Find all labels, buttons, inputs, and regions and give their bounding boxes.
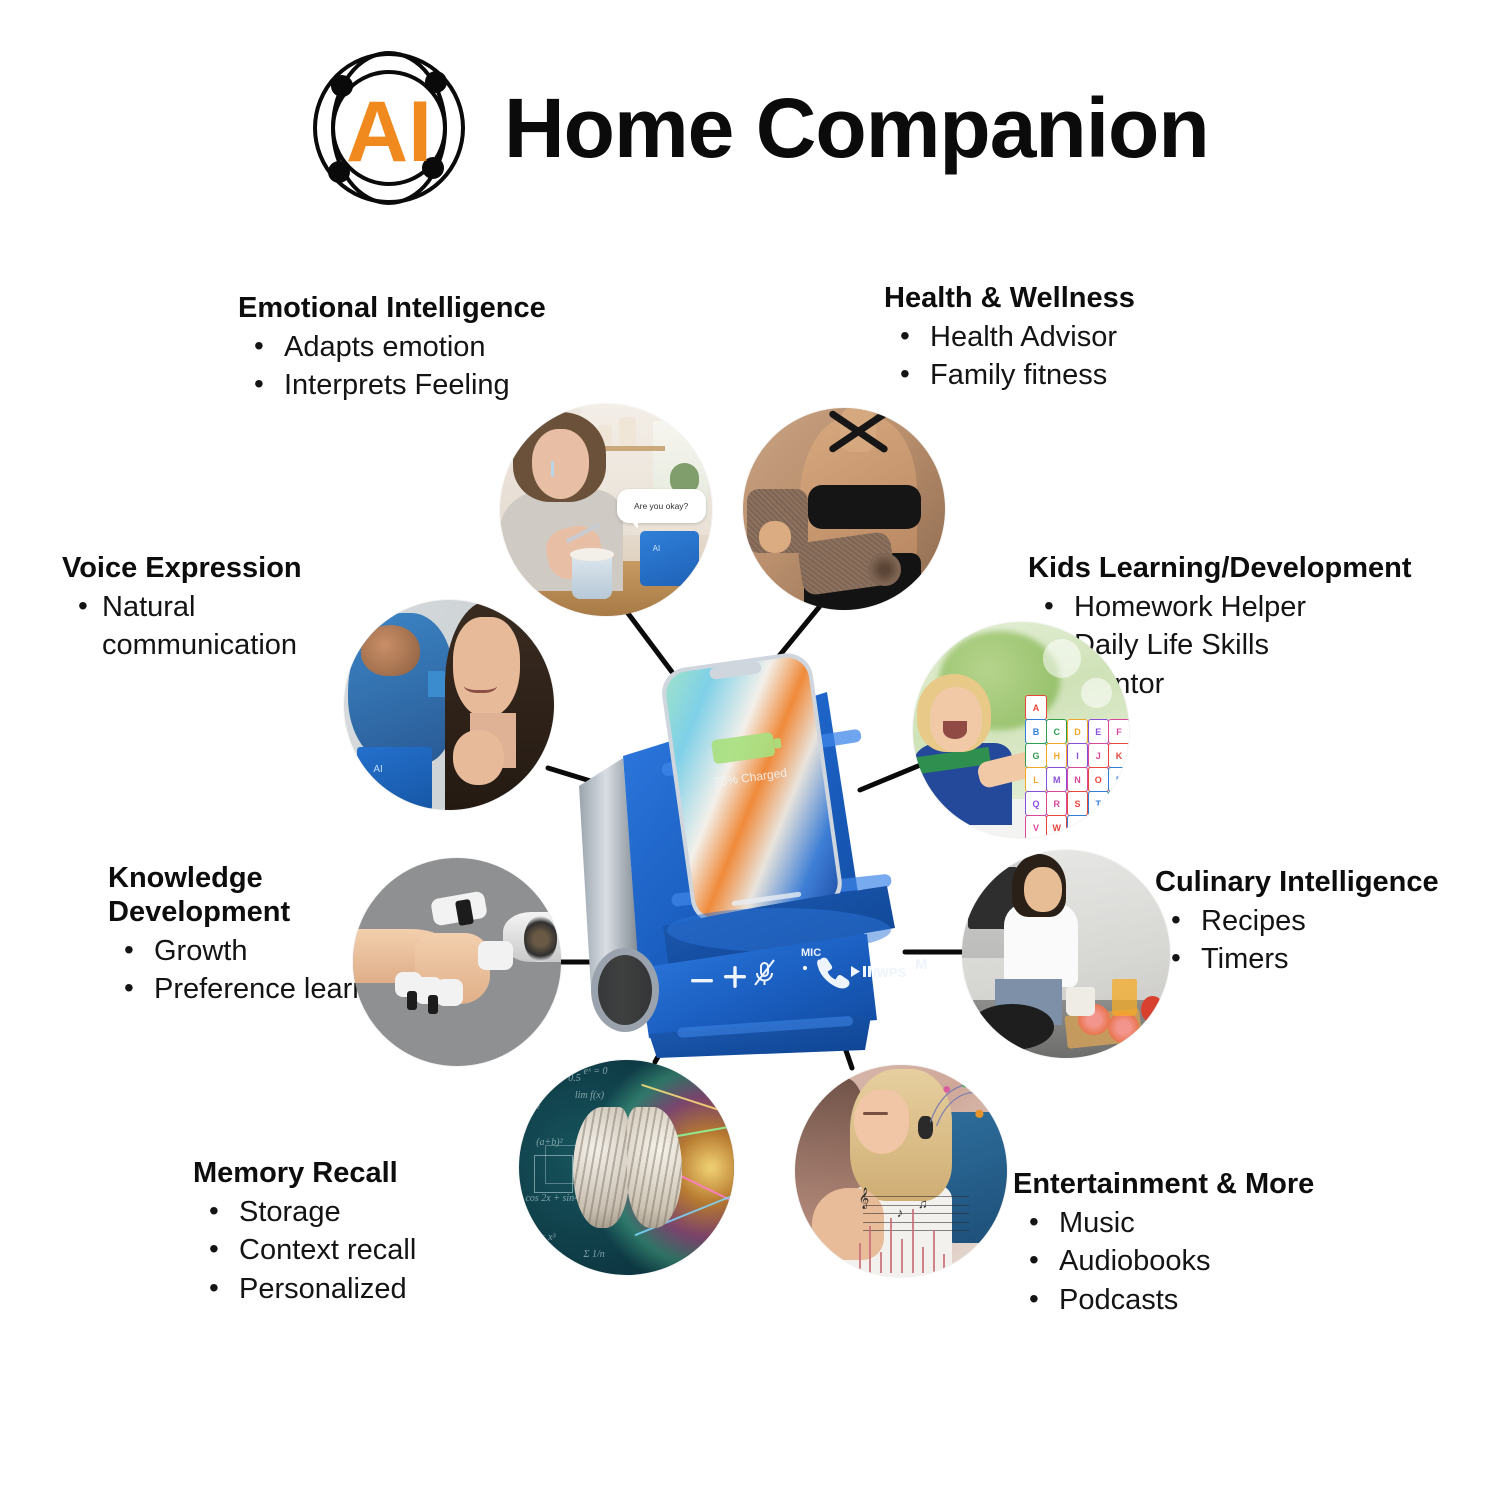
alphabet-block: A xyxy=(1025,695,1046,720)
alphabet-block: Y xyxy=(1088,815,1109,838)
feature-title: Emotional Intelligence xyxy=(238,292,668,326)
math-formula: (a+b)² xyxy=(536,1137,562,1148)
list-item: Adapts emotion xyxy=(238,328,668,367)
alphabet-block: Q xyxy=(1025,791,1046,816)
mic-pinhole xyxy=(803,966,807,970)
feature-bullet-list: Recipes Timers xyxy=(1155,902,1495,979)
feature-title: Voice Expression xyxy=(62,552,392,586)
alphabet-block: M xyxy=(1046,767,1067,792)
photo-health-wellness xyxy=(743,408,945,610)
list-item: Personalized xyxy=(193,1270,523,1309)
alphabet-block: N xyxy=(1067,767,1088,792)
list-item: Homework Helper xyxy=(1028,588,1488,627)
photo-culinary-intelligence xyxy=(962,850,1170,1058)
alphabet-block: P xyxy=(1108,767,1129,792)
alphabet-block: F xyxy=(1108,719,1129,744)
alphabet-block: R xyxy=(1046,791,1067,816)
page-title: Home Companion xyxy=(504,86,1209,170)
mode-button: M xyxy=(915,956,928,973)
mic-label: MIC xyxy=(801,947,821,959)
feature-title: Memory Recall xyxy=(193,1157,523,1191)
alphabet-block: Z xyxy=(1108,815,1129,838)
feature-title: Entertainment & More xyxy=(1013,1168,1373,1202)
feature-block-entertainment-more: Entertainment & More Music Audiobooks Po… xyxy=(1013,1168,1373,1320)
brand-header: AI Home Companion xyxy=(300,48,1209,208)
math-formula: y = x³ xyxy=(532,1232,556,1243)
math-formula: ∫ x² dx = 0.5 xyxy=(532,1073,581,1084)
photo-entertainment-more: 𝄞 ♪ ♫ xyxy=(795,1065,1007,1277)
music-staff-icon xyxy=(863,1196,969,1230)
alphabet-block: H xyxy=(1046,743,1067,768)
alphabet-block: E xyxy=(1088,719,1109,744)
alphabet-block: U xyxy=(1108,791,1129,816)
device-ai-badge: AI xyxy=(373,764,382,775)
alphabet-block: S xyxy=(1067,791,1088,816)
feature-bullet-list: Storage Context recall Personalized xyxy=(193,1193,523,1309)
feature-block-health-wellness: Health & Wellness Health Advisor Family … xyxy=(884,282,1284,395)
alphabet-block: X xyxy=(1067,815,1088,838)
math-formula: lim f(x) xyxy=(575,1090,604,1101)
feature-bullet-list: Adapts emotion Interprets Feeling xyxy=(238,328,668,405)
photo-memory-recall: ∫ x² dx = 0.5eˣ = 0πr²lim f(x)cos 2x + s… xyxy=(519,1060,734,1275)
photo-emotional-intelligence: AI Are you okay? xyxy=(500,404,712,616)
list-item: Interprets Feeling xyxy=(238,366,668,405)
math-formula: eˣ = 0 xyxy=(584,1066,608,1077)
list-item: Audiobooks xyxy=(1013,1242,1373,1281)
svg-text:/WPS: /WPS xyxy=(873,965,907,980)
device-ai-badge: AI xyxy=(653,544,661,553)
math-formula: Σ 1/n xyxy=(584,1249,605,1260)
alphabet-block: L xyxy=(1025,767,1046,792)
alphabet-block: G xyxy=(1025,743,1046,768)
list-item: Family fitness xyxy=(884,356,1284,395)
list-item: Recipes xyxy=(1155,902,1495,941)
alphabet-block: T xyxy=(1088,791,1109,816)
math-formula: πr² xyxy=(528,1103,540,1114)
math-formula: cos 2x + sin²x xyxy=(525,1193,581,1204)
logo-text-ai: AI xyxy=(346,84,432,180)
alphabet-block: C xyxy=(1046,719,1067,744)
photo-knowledge-development xyxy=(353,858,561,1066)
feature-title: Health & Wellness xyxy=(884,282,1284,316)
alphabet-block: K xyxy=(1108,743,1129,768)
feature-block-culinary-intelligence: Culinary Intelligence Recipes Timers xyxy=(1155,866,1495,979)
alphabet-block: B xyxy=(1025,719,1046,744)
list-item: Natural communication xyxy=(62,588,392,665)
alphabet-block: W xyxy=(1046,815,1067,838)
list-item: Music xyxy=(1013,1204,1373,1243)
feature-title: Kids Learning/Development xyxy=(1028,552,1488,586)
feature-title: Culinary Intelligence xyxy=(1155,866,1495,900)
speech-bubble: Are you okay? xyxy=(617,489,706,523)
feature-block-voice-expression: Voice Expression Natural communication xyxy=(62,552,392,665)
volume-down-button xyxy=(691,979,713,982)
alphabet-block: O xyxy=(1088,767,1109,792)
feature-block-emotional-intelligence: Emotional Intelligence Adapts emotion In… xyxy=(238,292,668,405)
list-item: Context recall xyxy=(193,1231,523,1270)
list-item: Health Advisor xyxy=(884,318,1284,357)
photo-kids-learning: ABCDEFGHIJKLMNOPQRSTUVWXYZ xyxy=(913,622,1129,838)
ai-home-companion-device: 75% Charged xyxy=(565,638,935,1058)
photo-voice-expression: AI xyxy=(344,600,554,810)
feature-bullet-list: Health Advisor Family fitness xyxy=(884,318,1284,395)
alphabet-block: J xyxy=(1088,743,1109,768)
feature-block-memory-recall: Memory Recall Storage Context recall Per… xyxy=(193,1157,523,1309)
list-item: Storage xyxy=(193,1193,523,1232)
feature-bullet-list: Natural communication xyxy=(62,588,392,665)
ai-atom-logo-icon: AI xyxy=(300,48,478,208)
list-item: Timers xyxy=(1155,940,1495,979)
alphabet-block: D xyxy=(1067,719,1088,744)
list-item: Podcasts xyxy=(1013,1281,1373,1320)
alphabet-block: V xyxy=(1025,815,1046,838)
feature-bullet-list: Music Audiobooks Podcasts xyxy=(1013,1204,1373,1320)
alphabet-block: I xyxy=(1067,743,1088,768)
